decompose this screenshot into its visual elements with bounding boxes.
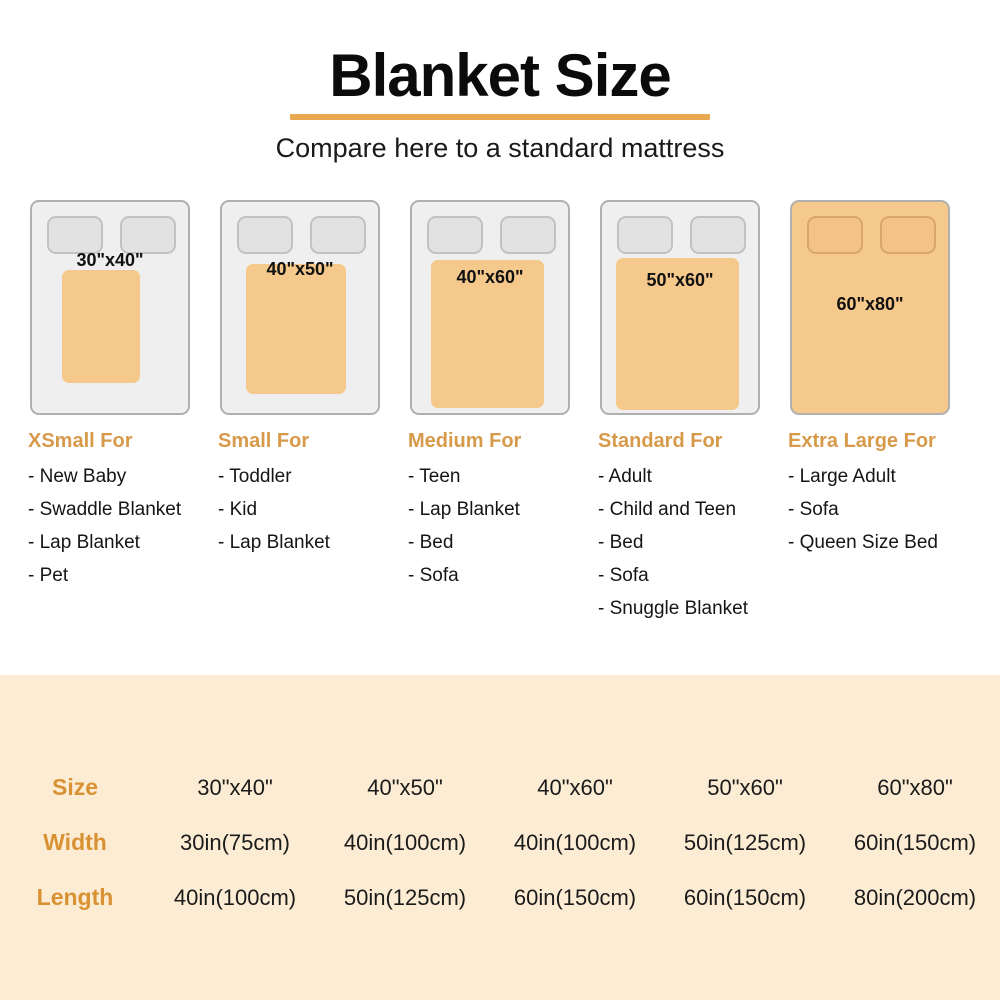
category-column-1: XSmall For- New Baby- Swaddle Blanket- L… (28, 430, 188, 631)
pillow-right (120, 216, 176, 254)
table-cell: 60in(150cm) (490, 870, 660, 925)
table-row: Size30"x40"40"x50"40"x60"50"x60"60"x80" (0, 760, 1000, 815)
category-use-item: - Kid (218, 499, 378, 521)
category-use-item: - Swaddle Blanket (28, 499, 188, 521)
category-column-2: Small For- Toddler- Kid- Lap Blanket (218, 430, 378, 631)
bed-diagram-3: 40"x60" (410, 200, 570, 415)
category-title: Extra Large For (788, 430, 948, 453)
table-cell: 40"x50" (320, 760, 490, 815)
category-use-item: - Lap Blanket (408, 499, 568, 521)
table-row: Width30in(75cm)40in(100cm)40in(100cm)50i… (0, 815, 1000, 870)
category-use-item: - Teen (408, 466, 568, 488)
category-column-5: Extra Large For- Large Adult- Sofa- Quee… (788, 430, 948, 631)
table-cell: 60"x80" (830, 760, 1000, 815)
page-subtitle: Compare here to a standard mattress (0, 134, 1000, 164)
table-cell: 50in(125cm) (660, 815, 830, 870)
table-cell: 50in(125cm) (320, 870, 490, 925)
category-title: Small For (218, 430, 378, 453)
table-row: Length40in(100cm)50in(125cm)60in(150cm)6… (0, 870, 1000, 925)
bed-diagram-1: 30"x40" (30, 200, 190, 415)
pillow-left (237, 216, 293, 254)
mattress: 40"x50" (220, 200, 380, 415)
category-use-item: - Sofa (408, 565, 568, 587)
category-title: Medium For (408, 430, 568, 453)
table-cell: 30"x40" (150, 760, 320, 815)
bed-diagram-4: 50"x60" (600, 200, 760, 415)
page-title: Blanket Size (323, 46, 676, 112)
category-use-item: - Lap Blanket (28, 532, 188, 554)
bed-diagram-5: 60"x80" (790, 200, 950, 415)
category-use-item: - Sofa (788, 499, 948, 521)
category-use-item: - Large Adult (788, 466, 948, 488)
pillow-left (47, 216, 103, 254)
table-row-label: Width (0, 815, 150, 870)
mattress: 50"x60" (600, 200, 760, 415)
blanket-size-label: 30"x40" (32, 250, 188, 271)
category-use-item: - Sofa (598, 565, 758, 587)
specification-table: Size30"x40"40"x50"40"x60"50"x60"60"x80"W… (0, 760, 1000, 925)
category-list-row: XSmall For- New Baby- Swaddle Blanket- L… (0, 430, 1000, 631)
category-use-item: - Queen Size Bed (788, 532, 948, 554)
category-use-item: - Child and Teen (598, 499, 758, 521)
blanket-overlay (246, 264, 346, 394)
bed-diagram-row: 30"x40"40"x50"40"x60"50"x60"60"x80" (0, 200, 1000, 415)
table-cell: 80in(200cm) (830, 870, 1000, 925)
table-row-label: Size (0, 760, 150, 815)
pillow-right (500, 216, 556, 254)
table-cell: 40"x60" (490, 760, 660, 815)
blanket-size-label: 40"x60" (412, 267, 568, 288)
category-use-item: - Adult (598, 466, 758, 488)
blanket-size-label: 50"x60" (602, 270, 758, 291)
mattress: 40"x60" (410, 200, 570, 415)
pillow-right (880, 216, 936, 254)
category-use-item: - Pet (28, 565, 188, 587)
pillow-right (310, 216, 366, 254)
category-use-item: - Bed (408, 532, 568, 554)
blanket-size-label: 40"x50" (222, 259, 378, 280)
header: Blanket Size Compare here to a standard … (0, 0, 1000, 164)
title-underline (290, 114, 710, 120)
table-row-label: Length (0, 870, 150, 925)
category-use-item: - Snuggle Blanket (598, 598, 758, 620)
table-cell: 30in(75cm) (150, 815, 320, 870)
table-cell: 60in(150cm) (830, 815, 1000, 870)
blanket-overlay (62, 270, 140, 383)
mattress: 30"x40" (30, 200, 190, 415)
pillow-left (427, 216, 483, 254)
table-cell: 40in(100cm) (150, 870, 320, 925)
category-use-item: - Lap Blanket (218, 532, 378, 554)
specification-panel: Size30"x40"40"x50"40"x60"50"x60"60"x80"W… (0, 675, 1000, 1000)
category-title: Standard For (598, 430, 758, 453)
category-column-3: Medium For- Teen- Lap Blanket- Bed- Sofa (408, 430, 568, 631)
table-cell: 40in(100cm) (320, 815, 490, 870)
pillow-right (690, 216, 746, 254)
category-use-item: - Toddler (218, 466, 378, 488)
pillow-left (617, 216, 673, 254)
category-column-4: Standard For- Adult- Child and Teen- Bed… (598, 430, 758, 631)
blanket-size-label: 60"x80" (792, 294, 948, 315)
bed-diagram-2: 40"x50" (220, 200, 380, 415)
mattress: 60"x80" (790, 200, 950, 415)
table-cell: 50"x60" (660, 760, 830, 815)
table-cell: 40in(100cm) (490, 815, 660, 870)
pillow-left (807, 216, 863, 254)
table-cell: 60in(150cm) (660, 870, 830, 925)
category-use-item: - Bed (598, 532, 758, 554)
category-use-item: - New Baby (28, 466, 188, 488)
category-title: XSmall For (28, 430, 188, 453)
